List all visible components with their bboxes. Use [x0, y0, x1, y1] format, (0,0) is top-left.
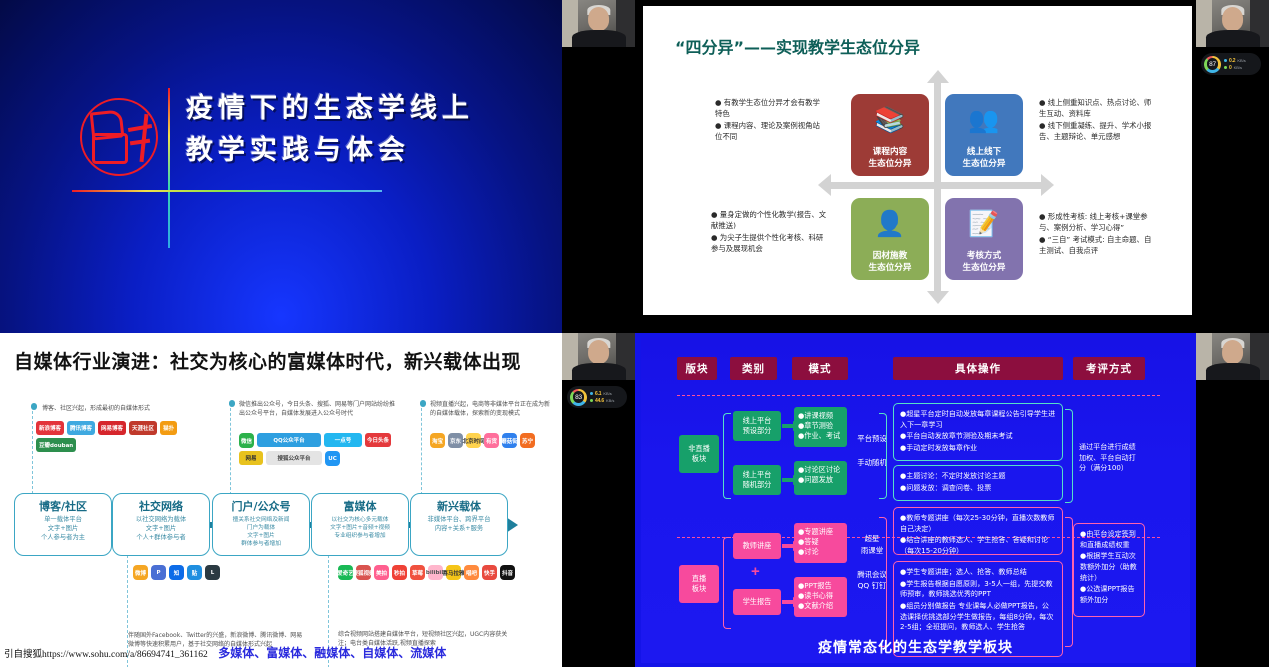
category-online-preset[interactable]: 线上平台 预设部分 [733, 411, 781, 441]
slide-surface: 版块 类别 模式 具体操作 考评方式 非直播 板块 线上平台 预设部分 线上平台… [641, 337, 1190, 663]
column-header-section: 版块 [677, 357, 717, 380]
citation-url: 引自搜狐https://www.sohu.com/a/86694741_3611… [4, 650, 208, 660]
brand-logo: 喜马拉雅 [446, 565, 461, 580]
red-seal-icon [80, 98, 158, 176]
brand-logo: 微博 [133, 565, 148, 580]
timeline-node-social[interactable]: 社交网络 以社交网络为载体 文字+图片 个人+群体参与者 [112, 493, 210, 556]
timeline-node-rich-media[interactable]: 富媒体 以社交为核心多元载体 文字+图片+音频+视频 专业组织参与者增加 [311, 493, 409, 556]
column-header-evaluation: 考评方式 [1073, 357, 1145, 380]
operations-box-lecture[interactable]: ●教师专题讲座（每次25-30分钟，直播次数教师自己决定） ●结合讲座的教师选人… [893, 507, 1063, 555]
brand-logo: 北京时间 [466, 433, 481, 448]
download-stat-row: 0 KB/s [1224, 65, 1246, 71]
quadrant-label-line2: 生态位分异 [963, 159, 1006, 170]
title-slide-canvas: 疫情下的生态学线上 教学实践与体会 [0, 0, 562, 333]
brace-right [1065, 409, 1073, 503]
network-stats: 0.2 KB/s 0 KB/s [1224, 58, 1246, 71]
arrow-left-icon [818, 174, 831, 196]
rainbow-vertical-rule [168, 88, 170, 248]
quadrant-online-offline[interactable]: 👥 线上线下 生态位分异 [945, 94, 1023, 176]
panel-self-media-evolution[interactable]: 自媒体行业演进：社交为核心的富媒体时代，新兴载体出现 博客/社区 单一载体平台 … [0, 333, 635, 667]
download-unit: KB/s [1234, 65, 1242, 70]
video-thumbnail-column-1[interactable] [562, 0, 635, 333]
network-quality-value: 83 [570, 389, 587, 406]
upload-unit: KB/s [603, 391, 611, 396]
citation-keywords: 多媒体、富媒体、融媒体、自媒体、流媒体 [218, 646, 446, 660]
note-bullet: ● 量身定做的个性化教学(报告、文献推送) [711, 210, 829, 232]
brand-logo: 网易博客 [98, 421, 126, 435]
brand-logo: 草莓 [410, 565, 425, 580]
upload-dot-icon [590, 392, 593, 395]
quadrant-slide-canvas: “四分异”——实现教学生态位分异 📚 课程内容 生态位分异 👥 线上线下 生态位… [635, 0, 1196, 333]
caption-portal: 微信推出公众号，今日头条、搜狐、网易等门户网站纷纷推出公众号平台，自媒体发展进入… [239, 401, 399, 418]
network-quality-badge[interactable]: 87 0.2 KB/s 0 KB/s [1201, 53, 1261, 75]
upload-dot-icon [1224, 59, 1227, 62]
row-divider [677, 395, 1160, 396]
brand-logo: 有货 [484, 433, 499, 448]
participant-video-tile[interactable] [1196, 0, 1269, 47]
brand-logo: 腾讯博客 [67, 421, 95, 435]
note-bullet: ● 有教学生态位分异才会有教学特色 [715, 98, 825, 120]
document-pencil-icon: 📝 [968, 198, 999, 251]
logo-group-rich-media: 爱奇艺 搜狐视频 美拍 秒拍 草莓 bilibili 喜马拉雅 唱吧 快手 抖音 [338, 565, 518, 580]
brand-logo: L [205, 565, 220, 580]
node-title: 博客/社区 [39, 498, 87, 514]
node-title: 富媒体 [344, 498, 377, 514]
caption-emerging: 视频直播兴起，电商等非媒体平台正在成为新的自媒体载体，探索新的变现模式 [430, 401, 550, 418]
node-subtitle: 非媒体平台、跨界平台 内容+关系+服务 [428, 516, 491, 534]
quadrant-assessment-method[interactable]: 📝 考核方式 生态位分异 [945, 198, 1023, 280]
brand-logo: 抖音 [500, 565, 515, 580]
logo-group-emerging: 淘宝 京东 北京时间 有货 蘑菇街 苏宁 [430, 433, 550, 448]
note-bullet: ● 课程内容、理论及案例视角站位不同 [715, 121, 825, 143]
brand-logo: 网易 [239, 451, 263, 465]
network-quality-badge[interactable]: 83 6.1 KB/s 44.6 KB/s [567, 386, 627, 408]
node-title: 门户/公众号 [231, 498, 290, 514]
connector-blog [32, 406, 34, 494]
node-subtitle: 擅关系社交网络及新闻 门户为载体 文字+图片 群体参与者增加 [233, 516, 290, 548]
slide-footer: 疫情常态化的生态学教学板块 [641, 637, 1190, 657]
panel-teaching-modules[interactable]: 版块 类别 模式 具体操作 考评方式 非直播 板块 线上平台 预设部分 线上平台… [635, 333, 1269, 667]
note-bullet: ● 线下侧重凝练、提升、学术小报告、主题辩论、单元感想 [1039, 121, 1155, 143]
brand-logo: 苏宁 [520, 433, 535, 448]
node-subtitle: 以社交为核心多元载体 文字+图片+音频+视频 专业组织参与者增加 [330, 516, 390, 540]
upload-unit: KB/s [1237, 58, 1245, 63]
arrow-down-icon [927, 291, 949, 304]
section-label-live[interactable]: 直播 板块 [679, 565, 719, 603]
note-bullet: ● 线上侧重知识点、热点讨论、师生互动、资料库 [1039, 98, 1155, 120]
brand-logo: UC [325, 451, 340, 466]
category-student-report[interactable]: 学生报告 [733, 589, 781, 615]
download-dot-icon [590, 399, 593, 402]
network-quality-ring-icon: 87 [1204, 56, 1221, 73]
two-people-icon: 👤 [874, 198, 905, 251]
brand-logo: 搜狐视频 [356, 565, 371, 580]
network-stats: 6.1 KB/s 44.6 KB/s [590, 391, 614, 404]
mode-box-preset[interactable]: ●讲课视频 ●章节测验 ●作业、考试 [794, 407, 847, 447]
brand-logo: 猫扑 [160, 421, 177, 435]
column-header-operations: 具体操作 [893, 357, 1063, 380]
section-label-non-live[interactable]: 非直播 板块 [679, 435, 719, 473]
title-stage: 疫情下的生态学线上 教学实践与体会 [80, 88, 474, 248]
connector-emerging [421, 403, 423, 495]
download-value: 0 [1229, 65, 1232, 71]
upload-stat-row: 0.2 KB/s [1224, 58, 1246, 64]
note-bullet: ● 为尖子生提供个性化考核、科研参与及展现机会 [711, 233, 829, 255]
participant-video-tile[interactable] [1196, 333, 1269, 380]
evaluation-box-live[interactable]: ●由平台设定签到和直播成绩权重 ●根据学生互动次数额外加分（助教统计） ●公选课… [1073, 523, 1145, 617]
brand-logo: 秒拍 [392, 565, 407, 580]
brace-right [879, 413, 887, 499]
download-dot-icon [1224, 66, 1227, 69]
brand-logo: 天涯社区 [129, 421, 157, 435]
rainbow-horizontal-rule [72, 190, 382, 192]
operations-box-random[interactable]: ●主题讨论：不定时发放讨论主题 ●问题发放：调查问卷、投票 [893, 465, 1063, 501]
mode-box-lecture[interactable]: ●专题讲座 ●答疑 ●讨论 [794, 523, 847, 563]
category-online-random[interactable]: 线上平台 随机部分 [733, 465, 781, 495]
brace-right [1065, 517, 1073, 647]
brace-left [723, 537, 731, 629]
title-line-2: 教学实践与体会 [186, 130, 474, 172]
node-subtitle: 单一载体平台 文字+图片 个人参与者为主 [41, 516, 85, 543]
category-teacher-lecture[interactable]: 教师讲座 [733, 533, 781, 559]
brand-logo: 爱奇艺 [338, 565, 353, 580]
quadrant-teach-by-aptitude[interactable]: 👤 因材施教 生态位分异 [851, 198, 929, 280]
video-thumbnail-column-4[interactable] [1196, 333, 1269, 667]
connector-portal [230, 403, 232, 495]
brand-logo: 搜狐公众平台 [266, 451, 322, 465]
brand-logo: 美拍 [374, 565, 389, 580]
quadrant-course-content[interactable]: 📚 课程内容 生态位分异 [851, 94, 929, 176]
upload-stat-row: 6.1 KB/s [590, 391, 614, 397]
upload-value: 0.2 [1229, 58, 1235, 64]
operations-box-preset[interactable]: ●超星平台定时自动发放每章课程公告引导学生进入下一章学习 ●平台自动发放章节测验… [893, 403, 1063, 461]
network-quality-ring-icon: 83 [570, 389, 587, 406]
node-title: 新兴载体 [437, 498, 481, 514]
meeting-video-grid: 疫情下的生态学线上 教学实践与体会 “四分异”——实现教学生态位分异 [0, 0, 1269, 667]
mode-label-non-live: 平台预设 手动随机 [849, 433, 895, 469]
books-icon: 📚 [874, 94, 905, 147]
panel-title-slide[interactable]: 疫情下的生态学线上 教学实践与体会 [0, 0, 635, 333]
brand-logo: 贴 [187, 565, 202, 580]
caption-blog: 博客、社区兴起，形成最初的自媒体形式 [42, 405, 217, 414]
timeline-node-portal[interactable]: 门户/公众号 擅关系社交网络及新闻 门户为载体 文字+图片 群体参与者增加 [212, 493, 310, 556]
brand-logo: QQ公众平台 [257, 433, 321, 447]
arrow-up-icon [927, 70, 949, 83]
note-bullet: ● “三自” 考试模式: 自主命题、自主测试、自我点评 [1039, 235, 1155, 257]
brand-logo: 快手 [482, 565, 497, 580]
quadrant-label-line2: 生态位分异 [869, 159, 912, 170]
mode-box-random[interactable]: ●讨论区讨论 ●问题发放 [794, 461, 847, 495]
timeline-node-emerging[interactable]: 新兴载体 非媒体平台、跨界平台 内容+关系+服务 [410, 493, 508, 556]
brand-logo: 今日头条 [365, 433, 391, 447]
logo-group-blog: 新浪博客 腾讯博客 网易博客 天涯社区 猫扑 豆瓣douban [36, 421, 216, 452]
brand-logo: 新浪博客 [36, 421, 64, 435]
brand-logo: 京东 [448, 433, 463, 448]
participant-video-tile[interactable] [562, 333, 635, 380]
note-bullet: ● 形成性考核: 线上考核+课堂参与、案例分析、学习心得” [1039, 212, 1155, 234]
quadrant-label-line2: 生态位分异 [869, 263, 912, 274]
note-bottom-left: ● 量身定做的个性化教学(报告、文献推送) ● 为尖子生提供个性化考核、科研参与… [711, 210, 829, 256]
page-title: “四分异”——实现教学生态位分异 [675, 34, 920, 58]
timeline-slide-canvas: 自媒体行业演进：社交为核心的富媒体时代，新兴载体出现 博客/社区 单一载体平台 … [0, 333, 562, 667]
column-header-mode: 模式 [792, 357, 848, 380]
timeline-node-blog[interactable]: 博客/社区 单一载体平台 文字+图片 个人参与者为主 [14, 493, 112, 556]
note-top-left: ● 有教学生态位分异才会有教学特色 ● 课程内容、理论及案例视角站位不同 [715, 98, 825, 144]
mode-label-live: 超星 雨课堂 腾讯会议 QQ 钉钉 [849, 533, 895, 592]
quadrant-label-line1: 线上线下 [967, 147, 1001, 158]
quadrant-label-line1: 课程内容 [873, 147, 907, 158]
node-subtitle: 以社交网络为载体 文字+图片 个人+群体参与者 [136, 516, 186, 543]
network-quality-value: 87 [1204, 56, 1221, 73]
video-thumbnail-column-3[interactable]: 83 6.1 KB/s 44.6 KB/s [562, 333, 635, 667]
brand-logo: 唱吧 [464, 565, 479, 580]
classroom-icon: 👥 [968, 94, 999, 147]
horizontal-axis [829, 182, 1044, 189]
column-header-category: 类别 [730, 357, 777, 380]
quadrant-label-line1: 因材施教 [873, 251, 907, 262]
brand-logo: 微信 [239, 433, 254, 448]
note-bottom-right: ● 形成性考核: 线上考核+课堂参与、案例分析、学习心得” ● “三自” 考试模… [1039, 212, 1155, 258]
brand-logo: bilibili [428, 565, 443, 580]
quadrant-label-line2: 生态位分异 [963, 263, 1006, 274]
blue-table-slide-canvas: 版块 类别 模式 具体操作 考评方式 非直播 板块 线上平台 预设部分 线上平台… [635, 333, 1196, 667]
download-stat-row: 44.6 KB/s [590, 398, 614, 404]
video-thumbnail-column-2[interactable]: 87 0.2 KB/s 0 KB/s [1196, 0, 1269, 333]
brand-logo: 豆瓣douban [36, 438, 76, 452]
participant-video-tile[interactable] [562, 0, 635, 47]
brand-logo: 一点号 [324, 433, 362, 447]
quadrant-label-line1: 考核方式 [967, 251, 1001, 262]
brace-left [723, 413, 731, 499]
page-title: 自媒体行业演进：社交为核心的富媒体时代，新兴载体出现 [14, 347, 521, 374]
evaluation-box-non-live[interactable]: 通过平台进行成绩加权、平台自动打分（满分100） [1073, 437, 1147, 481]
plus-sign: + [751, 563, 760, 580]
logo-group-portal: 微信 QQ公众平台 一点号 今日头条 网易 搜狐公众平台 UC [239, 433, 399, 466]
slide-surface: “四分异”——实现教学生态位分异 📚 课程内容 生态位分异 👥 线上线下 生态位… [643, 6, 1192, 315]
brand-logo: 蘑菇街 [502, 433, 517, 448]
arrow-right-icon [1041, 174, 1054, 196]
brand-logo: 淘宝 [430, 433, 445, 448]
brand-logo: P [151, 565, 166, 580]
note-top-right: ● 线上侧重知识点、热点讨论、师生互动、资料库 ● 线下侧重凝练、提升、学术小报… [1039, 98, 1155, 144]
upload-value: 6.1 [595, 391, 601, 397]
panel-four-differentiation[interactable]: “四分异”——实现教学生态位分异 📚 课程内容 生态位分异 👥 线上线下 生态位… [635, 0, 1269, 333]
title-line-1: 疫情下的生态学线上 [186, 88, 474, 130]
brace-right [879, 517, 887, 647]
title-text-group: 疫情下的生态学线上 教学实践与体会 [186, 88, 474, 172]
node-title: 社交网络 [139, 498, 183, 514]
logo-group-social: 微博 P 知 贴 L [133, 565, 253, 580]
brand-logo: 知 [169, 565, 184, 580]
download-value: 44.6 [595, 398, 604, 404]
citation: 引自搜狐https://www.sohu.com/a/86694741_3611… [4, 644, 446, 661]
download-unit: KB/s [606, 398, 614, 403]
mode-box-report[interactable]: ●PPT报告 ●读书心得 ●文献介绍 [794, 577, 847, 617]
